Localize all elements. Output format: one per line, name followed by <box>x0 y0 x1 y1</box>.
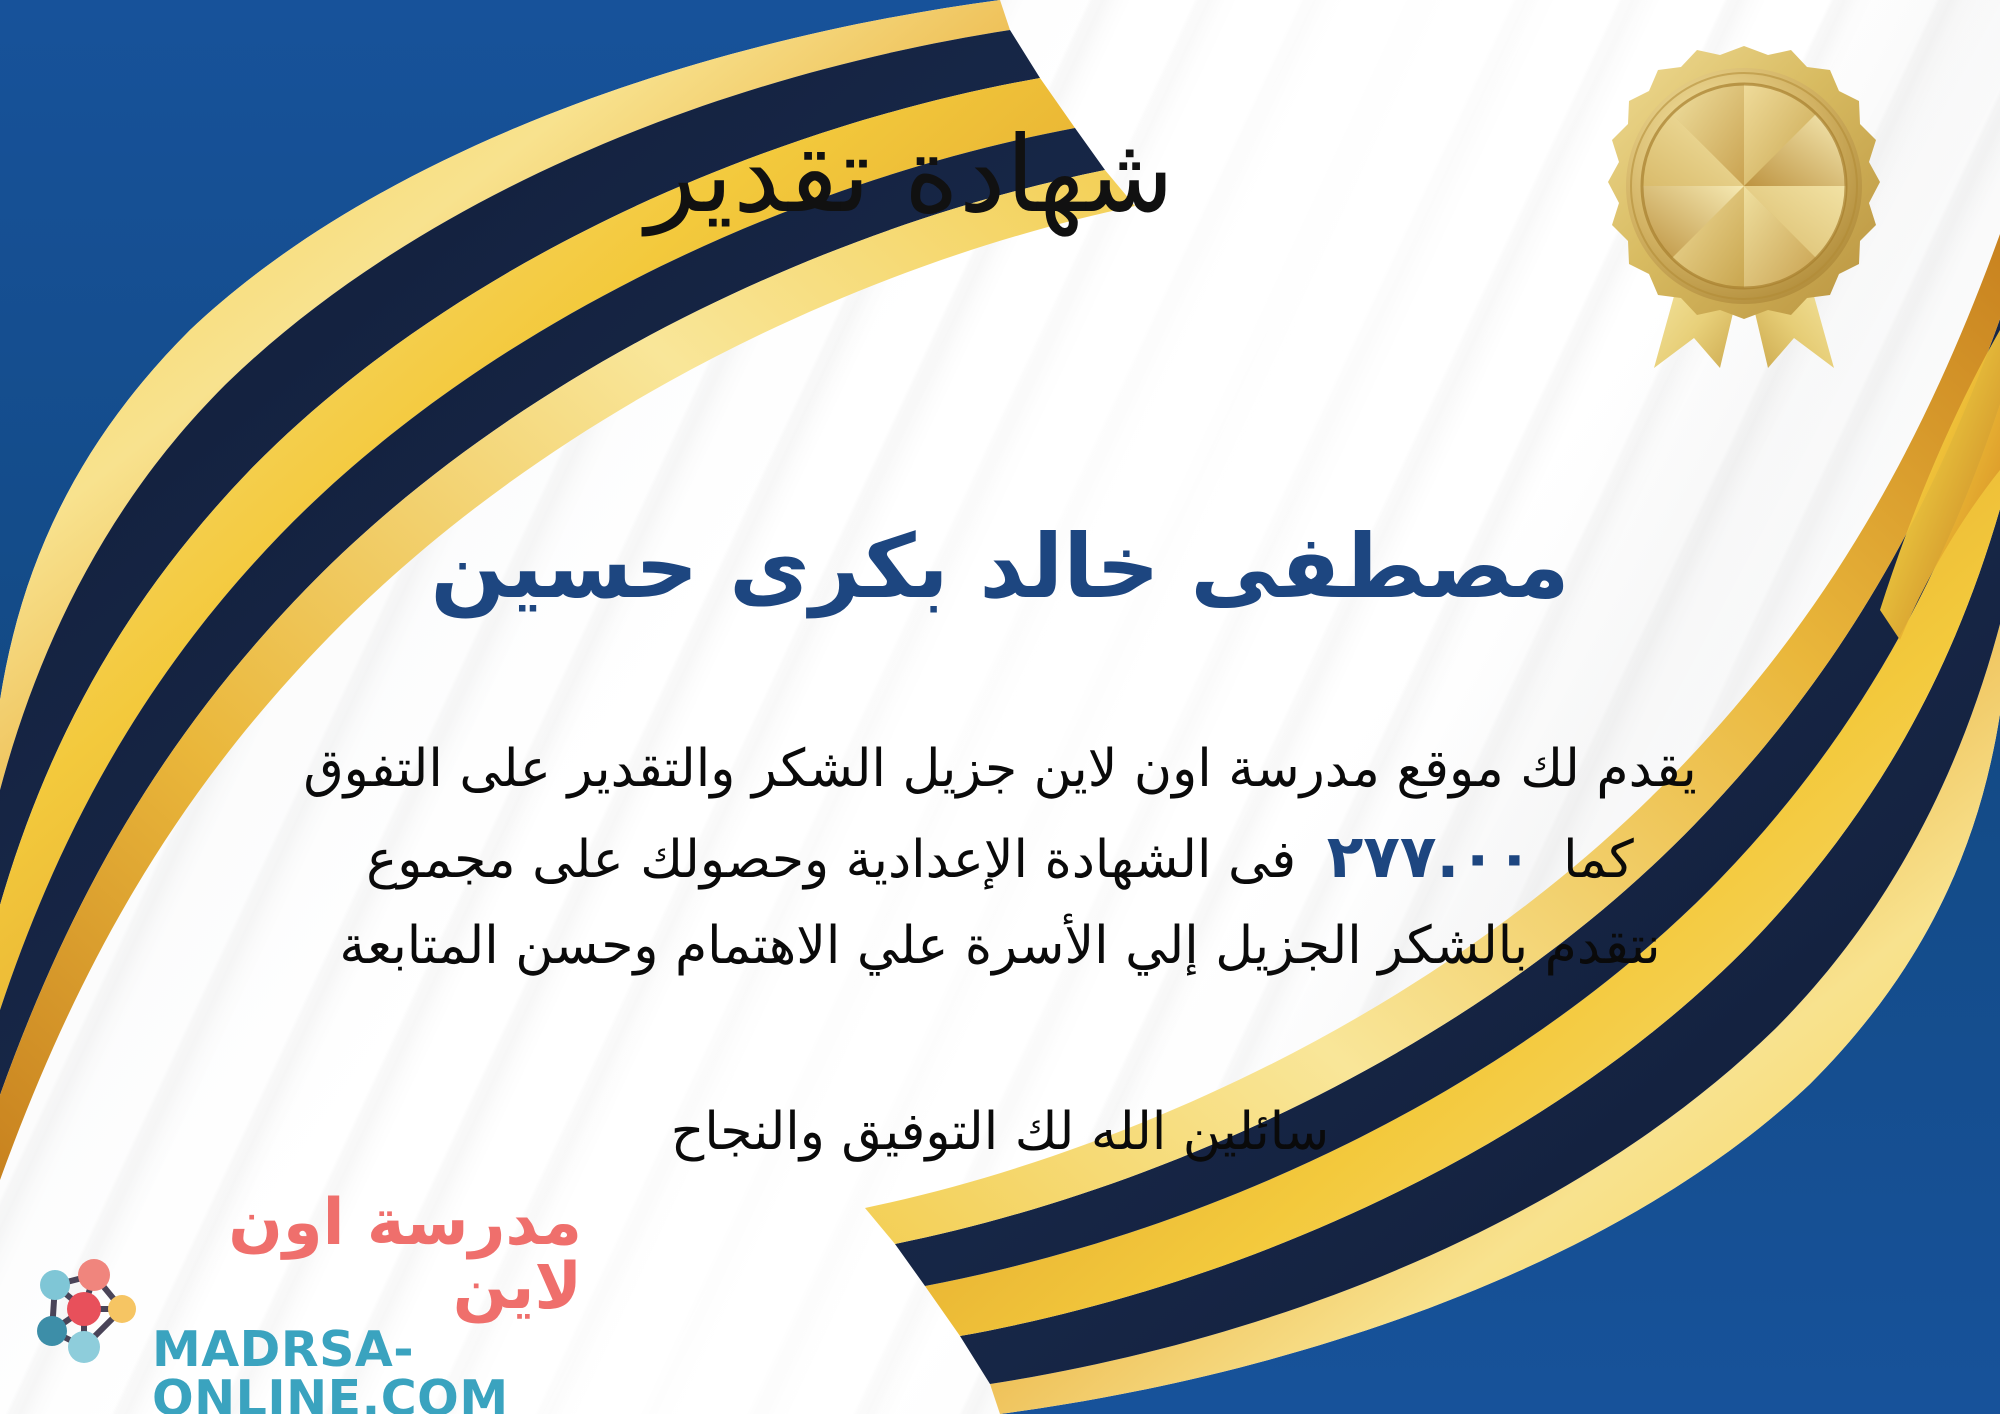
body-line-3: نتقدم بالشكر الجزيل إلي الأسرة علي الاهت… <box>60 905 1940 987</box>
total-score-value: ٢٧٧.٠٠ <box>1313 822 1547 892</box>
body-line-2-suffix: كما <box>1563 830 1634 890</box>
certificate-title: شهادة تقدير <box>0 118 2000 234</box>
certificate-canvas: شهادة تقدير مصطفى خالد بكرى حسين يقدم لك… <box>0 0 2000 1414</box>
certificate-body: يقدم لك موقع مدرسة اون لاين جزيل الشكر و… <box>60 728 1940 987</box>
body-line-1: يقدم لك موقع مدرسة اون لاين جزيل الشكر و… <box>60 728 1940 810</box>
brand-website: MADRSA-ONLINE.COM <box>152 1325 582 1414</box>
brand-text: مدرسة اون لاين MADRSA-ONLINE.COM <box>152 1191 582 1414</box>
body-line-2: كما ٢٧٧.٠٠ فى الشهادة الإعدادية وحصولك ع… <box>60 810 1940 905</box>
brand-logo[interactable]: مدرسة اون لاين MADRSA-ONLINE.COM <box>22 1222 582 1392</box>
recipient-name: مصطفى خالد بكرى حسين <box>0 516 2000 617</box>
brand-arabic-name: مدرسة اون لاين <box>152 1191 582 1319</box>
closing-line: سائلين الله لك التوفيق والنجاح <box>0 1093 2000 1171</box>
body-line-2-prefix: فى الشهادة الإعدادية وحصولك على مجموع <box>366 830 1296 890</box>
network-nodes-icon <box>22 1247 142 1367</box>
